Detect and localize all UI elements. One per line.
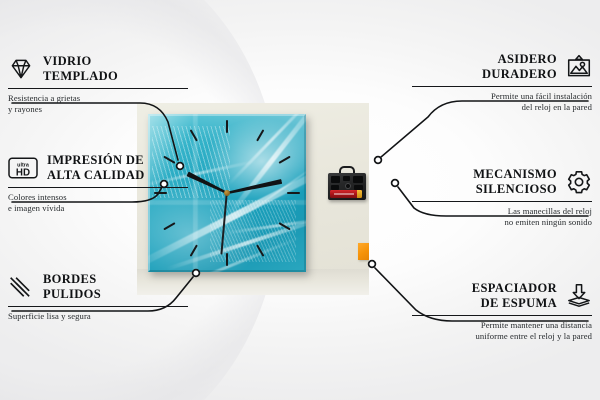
feature-header: VIDRIO TEMPLADO (8, 54, 188, 85)
feature-title-line2: DE ESPUMA (472, 296, 557, 311)
feature-title-line2: SILENCIOSO (473, 182, 557, 197)
mechanism-notch (343, 176, 350, 181)
infographic-canvas: VIDRIO TEMPLADO Resistencia a grietas y … (0, 0, 600, 400)
hd-label: HD (16, 168, 30, 179)
feature-title-line1: MECANISMO (473, 167, 557, 182)
feature-desc-line2: no emiten ningún sonido (412, 217, 592, 228)
clock-mechanism (328, 166, 366, 200)
callout-dot-mecanismo (392, 180, 399, 187)
feature-header: ASIDERO DURADERO (412, 52, 592, 83)
feature-divider (412, 315, 592, 316)
feature-mecanismo-silencioso: MECANISMO SILENCIOSO Las manecillas del … (412, 167, 592, 228)
feature-title: BORDES PULIDOS (43, 272, 101, 303)
mechanism-shaft (345, 183, 351, 189)
feature-divider (8, 306, 188, 307)
feature-title-line2: TEMPLADO (43, 69, 118, 84)
feature-asidero-duradero: ASIDERO DURADERO Permite una fácil insta… (412, 52, 592, 113)
feature-desc-line1: Permite mantener una distancia (412, 320, 592, 331)
feature-title-line1: BORDES (43, 272, 101, 287)
feature-desc-line2: uniforme entre el reloj y la pared (412, 331, 592, 342)
feature-title-line2: ALTA CALIDAD (47, 168, 145, 183)
feature-description: Resistencia a grietas y rayones (8, 93, 188, 116)
feature-desc-line2: e imagen vívida (8, 203, 188, 214)
feature-espaciador-de-espuma: ESPACIADOR DE ESPUMA Permite mantener un… (412, 281, 592, 342)
callout-dot-asidero (375, 157, 382, 164)
arrow-onto-foam-pad-icon (566, 283, 592, 309)
feature-desc-line1: Permite una fácil instalación (412, 91, 592, 102)
polished-edges-icon (8, 274, 34, 300)
feature-title: MECANISMO SILENCIOSO (473, 167, 557, 198)
feature-impresion-alta-calidad: ultra HD IMPRESIÓN DE ALTA CALIDAD Color… (8, 153, 188, 214)
feature-description: Superficie lisa y segura (8, 311, 188, 322)
ultra-hd-badge-icon: ultra HD (8, 155, 38, 181)
feature-header: MECANISMO SILENCIOSO (412, 167, 592, 198)
feature-title-line1: ASIDERO (482, 52, 557, 67)
diamond-icon (8, 56, 34, 82)
feature-title-line1: ESPACIADOR (472, 281, 557, 296)
feature-header: BORDES PULIDOS (8, 272, 188, 303)
feature-title: IMPRESIÓN DE ALTA CALIDAD (47, 153, 145, 184)
feature-desc-line1: Las manecillas del reloj (412, 206, 592, 217)
feature-description: Permite mantener una distancia uniforme … (412, 320, 592, 343)
feature-title-line1: IMPRESIÓN DE (47, 153, 145, 168)
mechanism-notch (353, 176, 363, 183)
gear-icon (566, 169, 592, 195)
feature-bordes-pulidos: BORDES PULIDOS Superficie lisa y segura (8, 272, 188, 322)
feature-title-line2: DURADERO (482, 67, 557, 82)
feature-title: ESPACIADOR DE ESPUMA (472, 281, 557, 312)
feature-desc-line1: Resistencia a grietas (8, 93, 188, 104)
feature-divider (8, 187, 188, 188)
feature-description: Permite una fácil instalación del reloj … (412, 91, 592, 114)
feature-description: Las manecillas del reloj no emiten ningú… (412, 206, 592, 229)
battery-label-band (334, 193, 354, 195)
feature-divider (412, 201, 592, 202)
callout-dot-espaciador (369, 261, 376, 268)
hanging-picture-frame-icon (566, 54, 592, 80)
feature-divider (412, 86, 592, 87)
mechanism-notch (331, 176, 340, 183)
feature-header: ultra HD IMPRESIÓN DE ALTA CALIDAD (8, 153, 188, 184)
feature-desc-line1: Colores intensos (8, 192, 188, 203)
mechanism-body (328, 173, 366, 200)
feature-desc-line1: Superficie lisa y segura (8, 311, 188, 322)
foam-spacer (358, 243, 369, 260)
feature-title: ASIDERO DURADERO (482, 52, 557, 83)
feature-vidrio-templado: VIDRIO TEMPLADO Resistencia a grietas y … (8, 54, 188, 115)
feature-description: Colores intensos e imagen vívida (8, 192, 188, 215)
foam-spacer-top (358, 243, 369, 260)
feature-title-line1: VIDRIO (43, 54, 118, 69)
feature-desc-line2: del reloj en la pared (412, 102, 592, 113)
battery-positive-tip (357, 190, 362, 198)
feature-title: VIDRIO TEMPLADO (43, 54, 118, 85)
feature-header: ESPACIADOR DE ESPUMA (412, 281, 592, 312)
aa-battery (330, 190, 362, 198)
feature-title-line2: PULIDOS (43, 287, 101, 302)
feature-desc-line2: y rayones (8, 104, 188, 115)
feature-divider (8, 88, 188, 89)
